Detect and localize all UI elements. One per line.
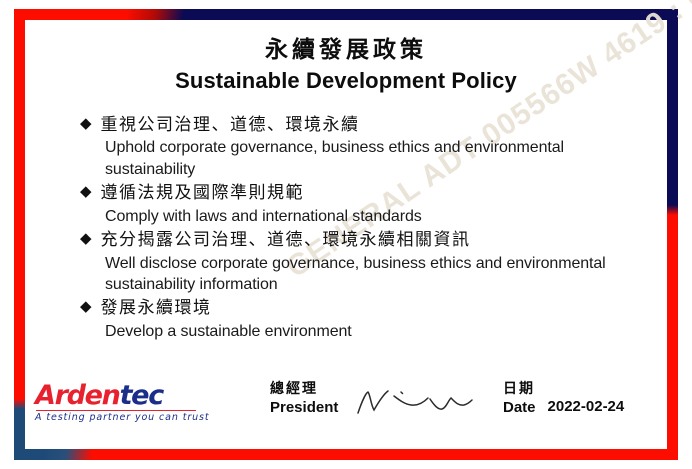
signature-block: 總經理 President [270, 381, 474, 422]
border-bottom [14, 449, 678, 460]
list-item: ◆ 重視公司治理、道德、環境永續 Uphold corporate govern… [80, 113, 647, 180]
date-labels: 日期 Date [503, 381, 536, 417]
logo-wordmark-red: Arden [35, 380, 120, 411]
date-label-zh: 日期 [503, 381, 536, 399]
date-value: 2022-02-24 [548, 398, 625, 415]
list-item: ◆ 發展永續環境 Develop a sustainable environme… [80, 296, 647, 342]
border-right [667, 9, 678, 460]
list-item: ◆ 充分揭露公司治理、道德、環境永續相關資訊 Well disclose cor… [80, 228, 647, 295]
page-title: 永續發展政策 Sustainable Development Policy [25, 20, 667, 97]
policy-text-en: Develop a sustainable environment [80, 321, 647, 342]
date-block: 日期 Date 2022-02-24 [503, 381, 624, 417]
policy-text-zh: 遵循法規及國際準則規範 [101, 181, 305, 206]
border-top [14, 9, 678, 20]
diamond-bullet-icon: ◆ [80, 181, 92, 203]
page-title-zh: 永續發展政策 [25, 34, 667, 65]
date-label-en: Date [503, 399, 536, 418]
signer-labels: 總經理 President [270, 381, 338, 417]
logo-wordmark: Ardentec [35, 382, 215, 409]
policy-text-zh: 發展永續環境 [101, 296, 212, 321]
diamond-bullet-icon: ◆ [80, 228, 92, 250]
signer-role-zh: 總經理 [270, 381, 338, 399]
company-logo: Ardentec A testing partner you can trust [35, 382, 215, 423]
certificate-page: GENERAL ADT 005566W 4619 : 01 永續發展政策 Sus… [0, 0, 692, 469]
border-left [14, 9, 25, 460]
policy-text-en: Comply with laws and international stand… [80, 206, 647, 227]
policy-list: ◆ 重視公司治理、道德、環境永續 Uphold corporate govern… [25, 113, 667, 342]
logo-tagline: A testing partner you can trust [35, 412, 215, 423]
handwritten-signature [354, 387, 474, 422]
policy-text-zh: 重視公司治理、道德、環境永續 [101, 113, 360, 138]
policy-text-en: Well disclose corporate governance, busi… [80, 253, 647, 296]
page-title-en: Sustainable Development Policy [25, 66, 667, 97]
logo-wordmark-blue: tec [120, 380, 163, 411]
diamond-bullet-icon: ◆ [80, 113, 92, 135]
document-footer: Ardentec A testing partner you can trust… [25, 379, 667, 441]
signer-role-en: President [270, 399, 338, 418]
list-item: ◆ 遵循法規及國際準則規範 Comply with laws and inter… [80, 181, 647, 227]
diamond-bullet-icon: ◆ [80, 296, 92, 318]
document-body: 永續發展政策 Sustainable Development Policy ◆ … [25, 20, 667, 449]
policy-text-en: Uphold corporate governance, business et… [80, 137, 647, 180]
policy-text-zh: 充分揭露公司治理、道德、環境永續相關資訊 [101, 228, 471, 253]
